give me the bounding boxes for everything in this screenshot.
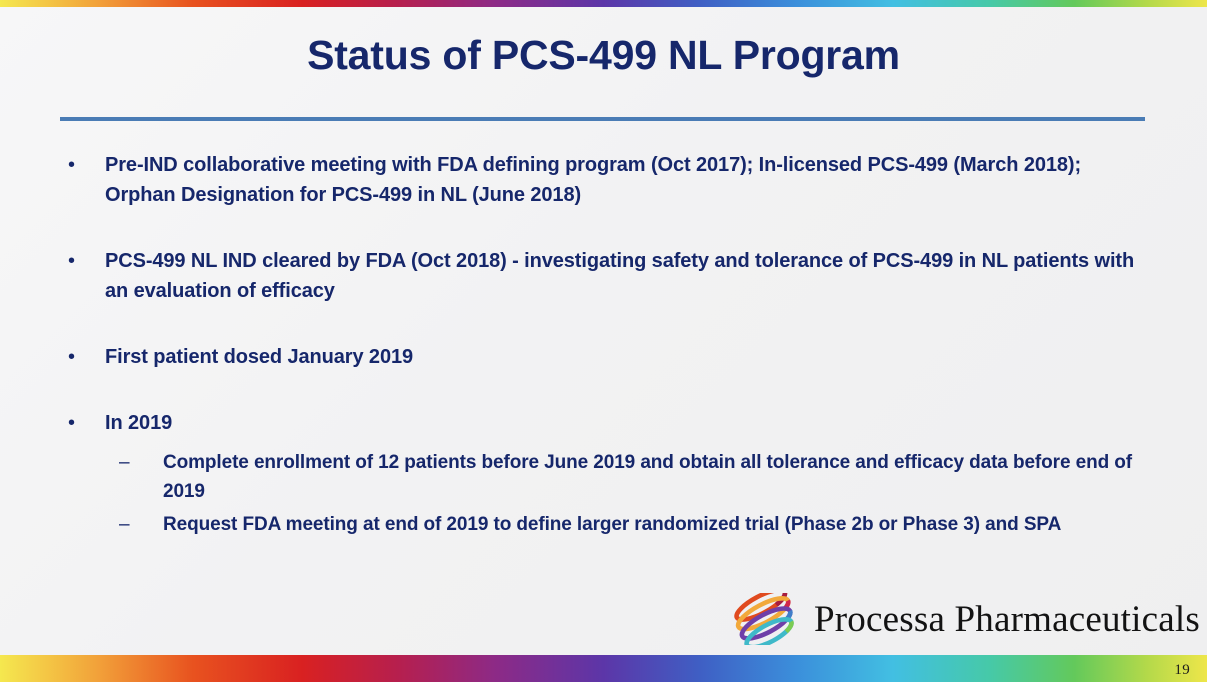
logo-wordmark: Processa Pharmaceuticals [814, 598, 1200, 641]
dash-marker-icon: – [119, 448, 130, 477]
bullet-item: • Pre-IND collaborative meeting with FDA… [0, 150, 1207, 210]
page-number: 19 [1174, 662, 1190, 679]
bullet-marker-icon: • [68, 408, 75, 438]
rainbow-bar-top [0, 0, 1207, 7]
bullet-marker-icon: • [68, 342, 75, 372]
bullet-text: Pre-IND collaborative meeting with FDA d… [105, 150, 1145, 210]
processa-rings-icon [728, 593, 804, 645]
sub-bullet-text: Request FDA meeting at end of 2019 to de… [163, 510, 1145, 539]
slide-title: Status of PCS-499 NL Program [0, 32, 1207, 79]
processa-pharmaceuticals-logo: Processa Pharmaceuticals [728, 593, 1200, 645]
dash-marker-icon: – [119, 510, 130, 539]
sub-bullet-text: Complete enrollment of 12 patients befor… [163, 448, 1145, 506]
title-divider [60, 117, 1145, 121]
slide: Status of PCS-499 NL Program • Pre-IND c… [0, 0, 1207, 682]
bullet-item: • First patient dosed January 2019 [0, 342, 1207, 372]
sub-bullet-list: – Complete enrollment of 12 patients bef… [105, 448, 1145, 539]
bullet-list: • Pre-IND collaborative meeting with FDA… [0, 150, 1207, 543]
sub-bullet-item: – Complete enrollment of 12 patients bef… [105, 448, 1145, 506]
bullet-marker-icon: • [68, 150, 75, 180]
bullet-item: • PCS-499 NL IND cleared by FDA (Oct 201… [0, 246, 1207, 306]
bullet-text: First patient dosed January 2019 [105, 342, 1145, 372]
sub-bullet-item: – Request FDA meeting at end of 2019 to … [105, 510, 1145, 539]
bullet-item: • In 2019 – Complete enrollment of 12 pa… [0, 408, 1207, 539]
bullet-text: PCS-499 NL IND cleared by FDA (Oct 2018)… [105, 246, 1145, 306]
rainbow-bar-bottom [0, 655, 1207, 682]
bullet-text: In 2019 [105, 408, 1145, 438]
bullet-marker-icon: • [68, 246, 75, 276]
